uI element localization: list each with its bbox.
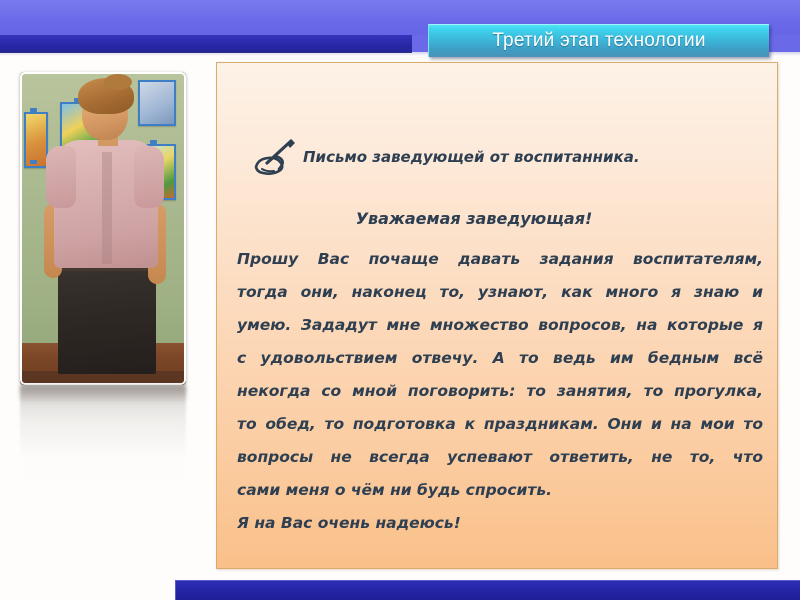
letter-line: Я на Вас очень надеюсь! bbox=[237, 507, 763, 540]
letter-line: то обед, то подготовка к праздникам. Они… bbox=[237, 408, 763, 441]
photo-person-blouse-placket bbox=[102, 152, 112, 264]
letter-line: вопросы не всегда успевают ответить, не … bbox=[237, 441, 763, 474]
letter-line: тогда они, наконец то, узнают, как много… bbox=[237, 276, 763, 309]
letter-panel: Письмо заведующей от воспитанника. Уважа… bbox=[216, 62, 778, 569]
letter-salutation: Уважаемая заведующая! bbox=[217, 209, 777, 228]
photo-artwork-pin bbox=[150, 140, 157, 144]
letter-line: сами меня о чём ни будь спросить. bbox=[237, 474, 763, 507]
photo-person-hair-top bbox=[104, 74, 132, 90]
letter-heading-row: Письмо заведующей от воспитанника. bbox=[251, 139, 640, 175]
photo-artwork-pin bbox=[30, 160, 37, 164]
letter-line: умею. Зададут мне множество вопросов, на… bbox=[237, 309, 763, 342]
photo-container bbox=[20, 72, 186, 385]
letter-body: Прошу Вас почаще давать задания воспитат… bbox=[237, 243, 763, 540]
letter-heading-text: Письмо заведующей от воспитанника. bbox=[303, 148, 640, 166]
photo-person-sleeve-left bbox=[46, 146, 76, 208]
photo-person-sleeve-right bbox=[134, 146, 164, 208]
photo-artwork-pin bbox=[30, 108, 37, 112]
letter-line: Прошу Вас почаще давать задания воспитат… bbox=[237, 243, 763, 276]
slide-canvas: Третий этап технологии bbox=[0, 0, 800, 600]
letter-line: некогда со мной поговорить: то занятия, … bbox=[237, 375, 763, 408]
teacher-photo bbox=[20, 72, 186, 385]
photo-person-skirt bbox=[58, 262, 156, 374]
photo-artwork bbox=[138, 80, 176, 126]
footer-bar bbox=[175, 580, 800, 600]
slide-title-banner: Третий этап технологии bbox=[428, 24, 769, 57]
header-accent-stripe bbox=[0, 35, 412, 53]
hand-writing-pen-icon bbox=[251, 139, 297, 175]
photo-reflection bbox=[20, 386, 186, 482]
slide-title-text: Третий этап технологии bbox=[492, 30, 705, 52]
letter-line: с удовольствием отвечу. А то ведь им бед… bbox=[237, 342, 763, 375]
